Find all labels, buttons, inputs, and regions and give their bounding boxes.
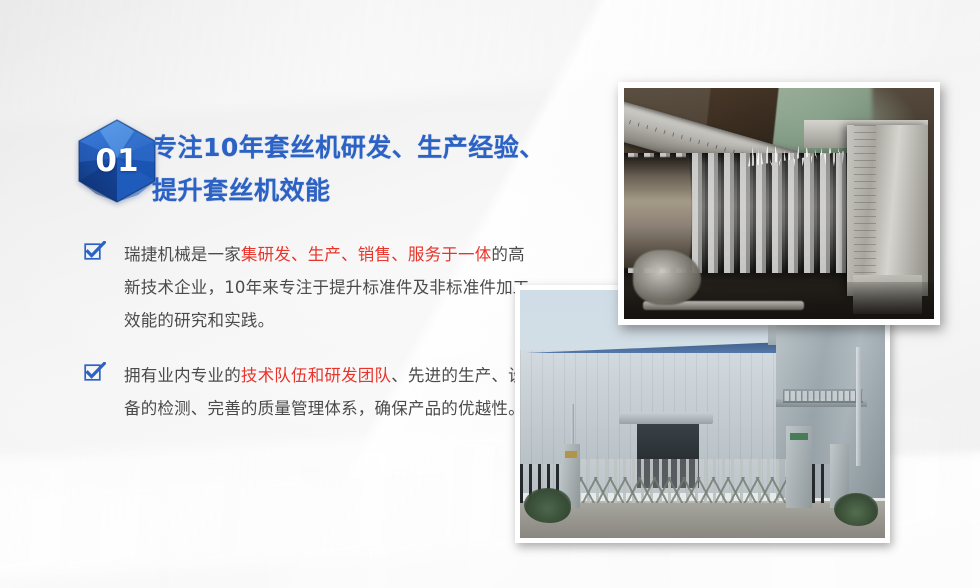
list-item: 瑞捷机械是一家集研发、生产、销售、服务于一体的高新技术企业，10年来专注于提升标… [84, 238, 534, 337]
checkbox-checked-icon [84, 241, 106, 261]
headline-line-2: 提升套丝机效能 [152, 169, 544, 212]
list-item-text: 拥有业内专业的技术队伍和研发团队、先进的生产、设备的检测、完善的质量管理体系，确… [124, 359, 534, 425]
badge-number: 01 [76, 118, 158, 204]
feature-list: 瑞捷机械是一家集研发、生产、销售、服务于一体的高新技术企业，10年来专注于提升标… [84, 238, 534, 447]
threading-machine-photo [618, 82, 940, 325]
text-column: 01 专注10年套丝机研发、生产经验、 提升套丝机效能 瑞捷机械是一家集研发、生… [0, 0, 545, 588]
hexagon-badge-icon: 01 [76, 118, 158, 204]
promo-banner: 01 专注10年套丝机研发、生产经验、 提升套丝机效能 瑞捷机械是一家集研发、生… [0, 0, 980, 588]
page-title: 专注10年套丝机研发、生产经验、 提升套丝机效能 [152, 126, 544, 212]
bullet-2-seg-1: 拥有业内专业的 [124, 366, 241, 385]
bullet-1-seg-2-highlight: 集研发、生产、销售、服务于一体 [241, 245, 492, 264]
list-item-text: 瑞捷机械是一家集研发、生产、销售、服务于一体的高新技术企业，10年来专注于提升标… [124, 238, 534, 337]
bullet-1-seg-1: 瑞捷机械是一家 [124, 245, 241, 264]
bullet-2-seg-2-highlight: 技术队伍和研发团队 [241, 366, 391, 385]
checkbox-checked-icon [84, 362, 106, 382]
headline-line-1: 专注10年套丝机研发、生产经验、 [152, 126, 544, 169]
list-item: 拥有业内专业的技术队伍和研发团队、先进的生产、设备的检测、完善的质量管理体系，确… [84, 359, 534, 425]
